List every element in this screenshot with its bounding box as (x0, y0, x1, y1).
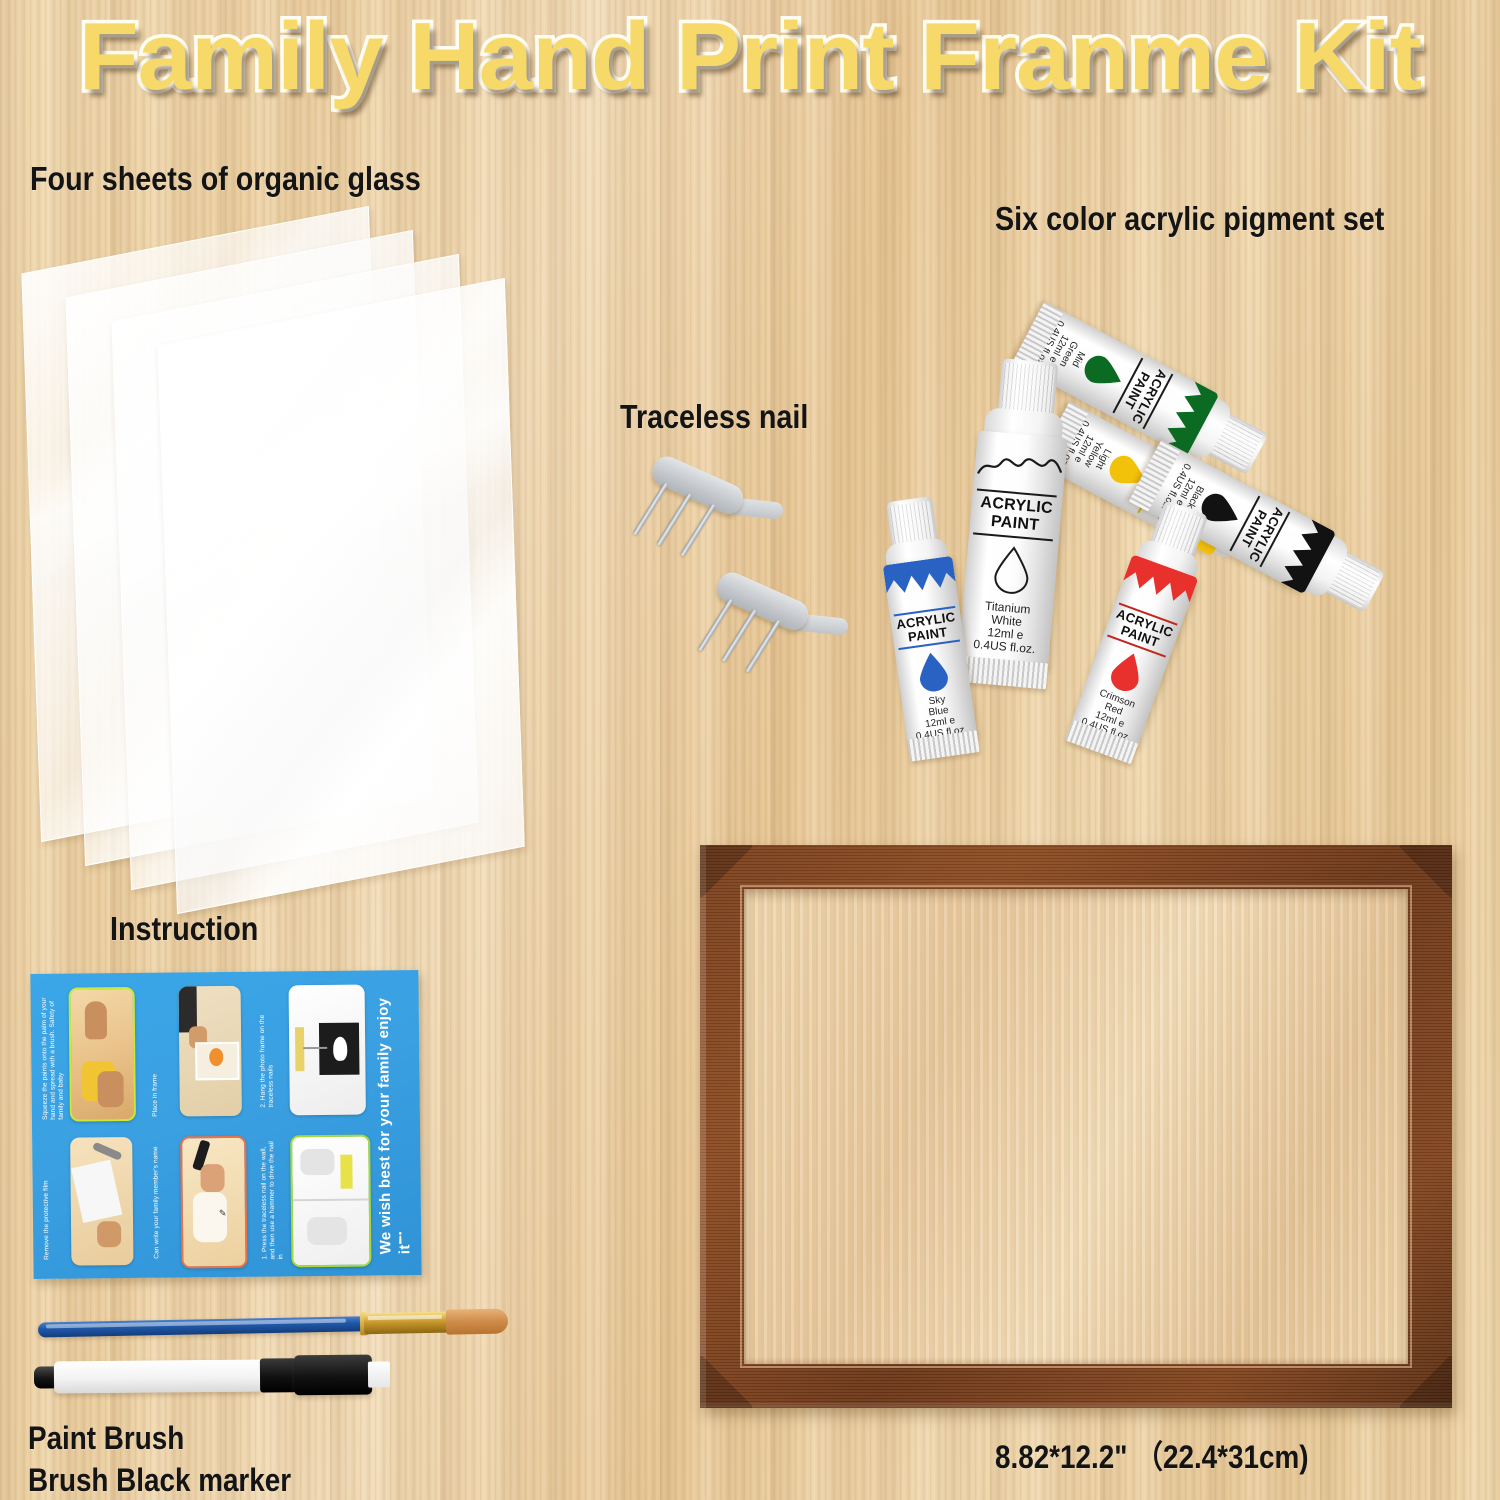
page-title: Family Hand Print Franme Kit (0, 2, 1500, 112)
label-paint-brush: Paint Brush (28, 1420, 184, 1457)
label-frame-size: 8.82*12.2" （22.4*31cm) (995, 1432, 1308, 1478)
tube-brand: ACRYLICPAINT (969, 493, 1062, 537)
nail-pin (632, 482, 668, 536)
brush-bristles (446, 1308, 508, 1334)
marker-barrel (54, 1360, 264, 1394)
organic-glass-sheets (0, 195, 600, 895)
instruction-caption: 2. Hang the photo frame on the traceless… (259, 987, 286, 1107)
marker-tip (368, 1361, 390, 1387)
instruction-caption: Remove the protective film (42, 1140, 69, 1260)
nail-pin (697, 598, 733, 652)
brush-handle (38, 1316, 368, 1337)
label-black-marker: Brush Black marker (28, 1462, 291, 1499)
glass-sheet (157, 278, 524, 914)
black-marker (32, 1354, 387, 1397)
instruction-photo (179, 986, 242, 1117)
instruction-caption: 1. Press the traceless nail on the wall,… (260, 1137, 287, 1259)
tube-body: ACRYLICPAINT Titanium White 12ml e 0.4US… (958, 430, 1068, 667)
paint-splash-icon (883, 556, 959, 611)
paint-tube-titanium-white: ACRYLICPAINT Titanium White 12ml e 0.4US… (954, 357, 1076, 694)
instruction-photo: ✎ (180, 1136, 247, 1269)
label-pigment-set: Six color acrylic pigment set (995, 200, 1384, 238)
label-organic-glass: Four sheets of organic glass (30, 160, 421, 198)
brush-ferrule (364, 1312, 450, 1335)
paint-splash-icon (973, 438, 1067, 496)
paint-drop-icon (914, 650, 951, 694)
instruction-photo (69, 987, 136, 1122)
instruction-wish-text: We wish best for your family enjoy it！ (375, 992, 416, 1254)
tube-description: Titanium White 12ml e 0.4US fl.oz. (959, 598, 1053, 658)
label-instruction: Instruction (110, 910, 258, 948)
nail-pin (745, 619, 781, 673)
nail-pin (721, 609, 757, 663)
tube-body: ACRYLICPAINT Crimson Red 12ml e 0.4US fl… (1071, 554, 1198, 747)
paint-drop-icon (991, 544, 1033, 595)
frame-interior (744, 889, 1408, 1364)
nail-pin (656, 493, 692, 547)
marker-grip (260, 1358, 296, 1392)
photo-frame (700, 845, 1452, 1408)
paint-tube-crimson-red: ACRYLICPAINT Crimson Red 12ml e 0.4US fl… (1062, 495, 1221, 767)
instruction-caption: Place in frame (151, 1057, 178, 1117)
instruction-caption: Squeeze the paints onto the palm of your… (41, 990, 68, 1120)
nail-pin (680, 503, 716, 557)
sheet-sheen (158, 279, 523, 913)
marker-cap (294, 1355, 372, 1396)
paint-drop-icon (1079, 349, 1129, 396)
label-traceless-nail: Traceless nail (620, 398, 808, 436)
instruction-sheet: Squeeze the paints onto the palm of your… (30, 970, 421, 1279)
instruction-photo (290, 1134, 371, 1267)
product-infographic: Family Hand Print Franme Kit Four sheets… (0, 0, 1500, 1500)
instruction-photo (289, 985, 366, 1116)
paint-drop-icon (1105, 647, 1149, 696)
paint-brush (38, 1307, 508, 1342)
instruction-caption: Can write your family member's name (152, 1139, 179, 1259)
instruction-photo (70, 1137, 133, 1266)
